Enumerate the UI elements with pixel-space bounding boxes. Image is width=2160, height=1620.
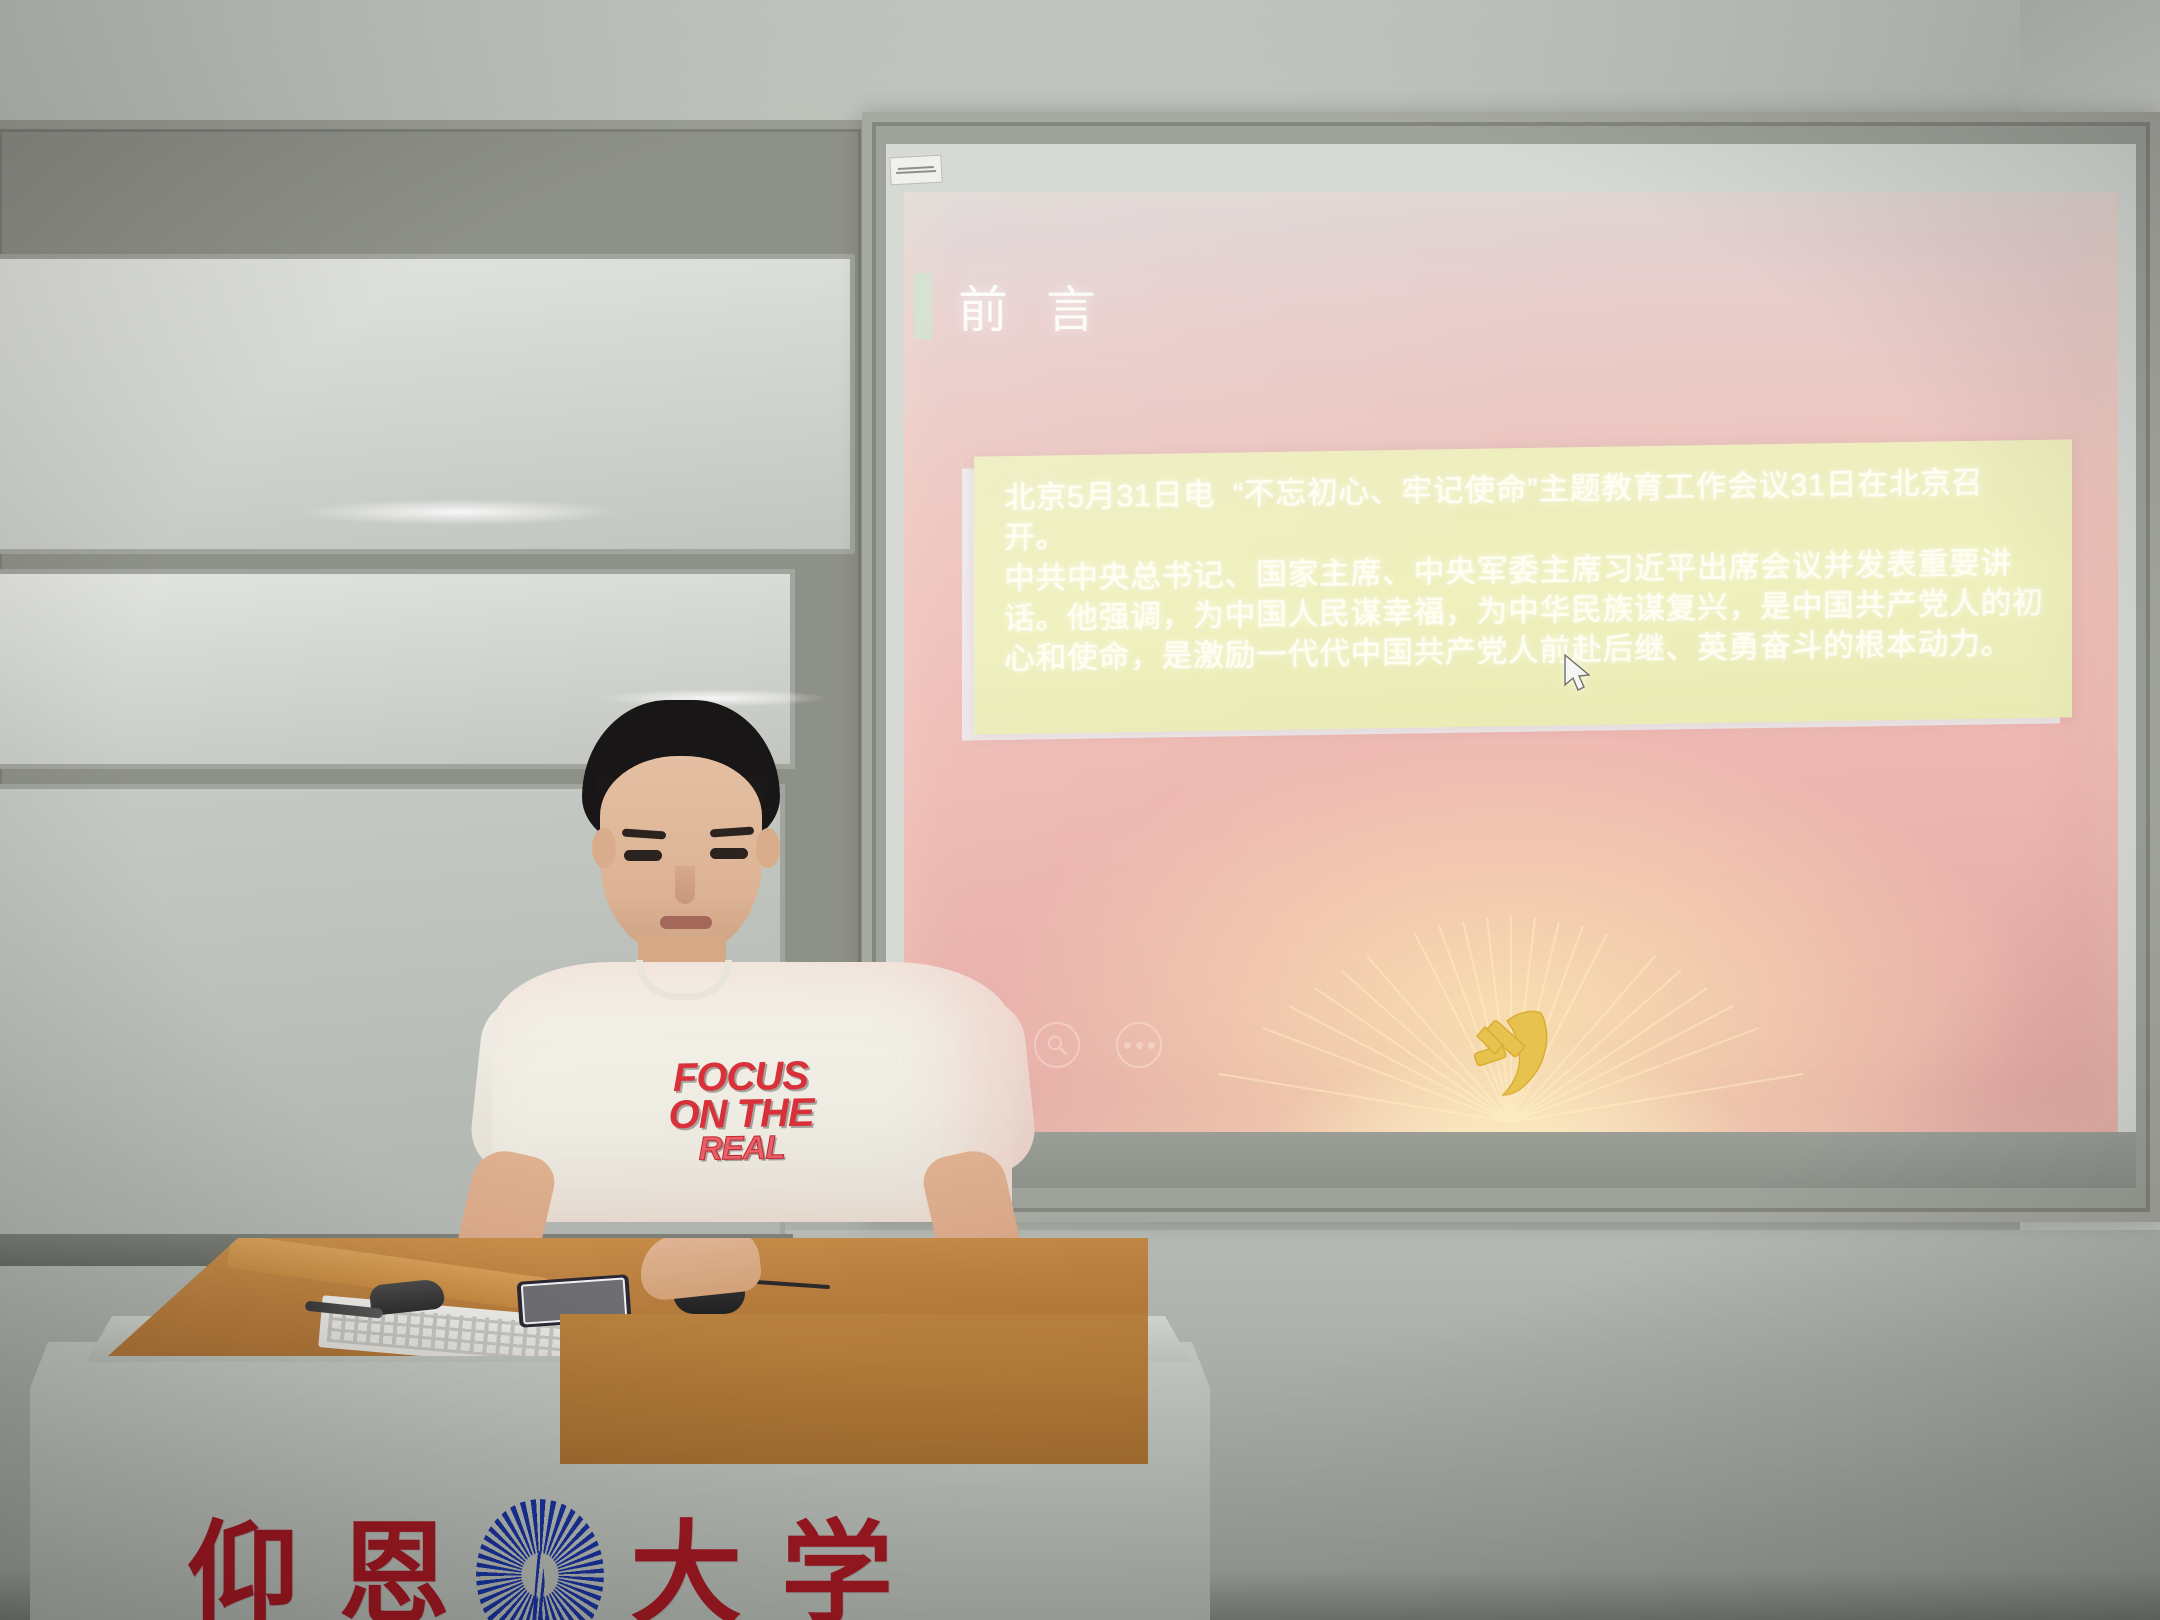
slide-title-row: 前 言 [914,270,1108,342]
tshirt-text-line3: REAL [698,1132,784,1164]
whiteboard-panel-top [0,254,855,554]
wall-upper [0,0,2160,120]
projection-surface: 前 言 北京5月31日电 “不忘初心、牢记使命”主题教育工作会议31日在北京召开… [886,144,2136,1188]
slide-overlay-toolbar[interactable] [1034,1022,1162,1068]
screen-lower-bezel [886,1132,2136,1188]
university-name-right: 大 学 [630,1519,893,1620]
projection-screen: 前 言 北京5月31日电 “不忘初心、牢记使命”主题教育工作会议31日在北京召开… [862,112,2160,1222]
content-box: 北京5月31日电 “不忘初心、牢记使命”主题教育工作会议31日在北京召开。 中共… [974,439,2072,734]
ellipsis-dots [1124,1042,1155,1049]
university-name-left: 仰 恩 [187,1519,450,1620]
presenter: FOCUS ON THE REAL [470,700,1030,1220]
slide-emblem-block: 党建历程 伟大成就 [904,752,2118,1132]
lecture-podium: 仰 恩 大 学 [30,1230,1210,1620]
presenter-ear-left [592,828,616,868]
title-accent-bar [914,273,932,339]
presenter-eye-right [710,848,748,859]
presentation-slide[interactable]: 前 言 北京5月31日电 “不忘初心、牢记使命”主题教育工作会议31日在北京召开… [904,192,2118,1132]
presenter-eye-left [624,850,662,861]
search-icon[interactable] [1034,1022,1080,1068]
podium-desk-front [560,1314,1148,1464]
presenter-ear-right [756,828,780,868]
classroom-scene: 前 言 北京5月31日电 “不忘初心、牢记使命”主题教育工作会议31日在北京召开… [0,0,2160,1620]
presenter-hand-on-mouse [637,1226,763,1302]
tshirt-text-line2: ON THE [668,1095,814,1134]
presenter-nose [675,866,695,904]
hammer-and-sickle-icon [1455,997,1567,1109]
university-logo: 仰 恩 大 学 [180,1500,900,1620]
tshirt-graphic: FOCUS ON THE REAL [645,1050,837,1171]
more-options-icon[interactable] [1116,1022,1162,1068]
equipment-label-sticker [889,155,942,186]
university-emblem-icon [476,1499,604,1620]
presenter-mouth [660,916,712,929]
slide-title: 前 言 [958,270,1108,342]
slide-body-text: 北京5月31日电 “不忘初心、牢记使命”主题教育工作会议31日在北京召开。 中共… [1004,462,2046,680]
